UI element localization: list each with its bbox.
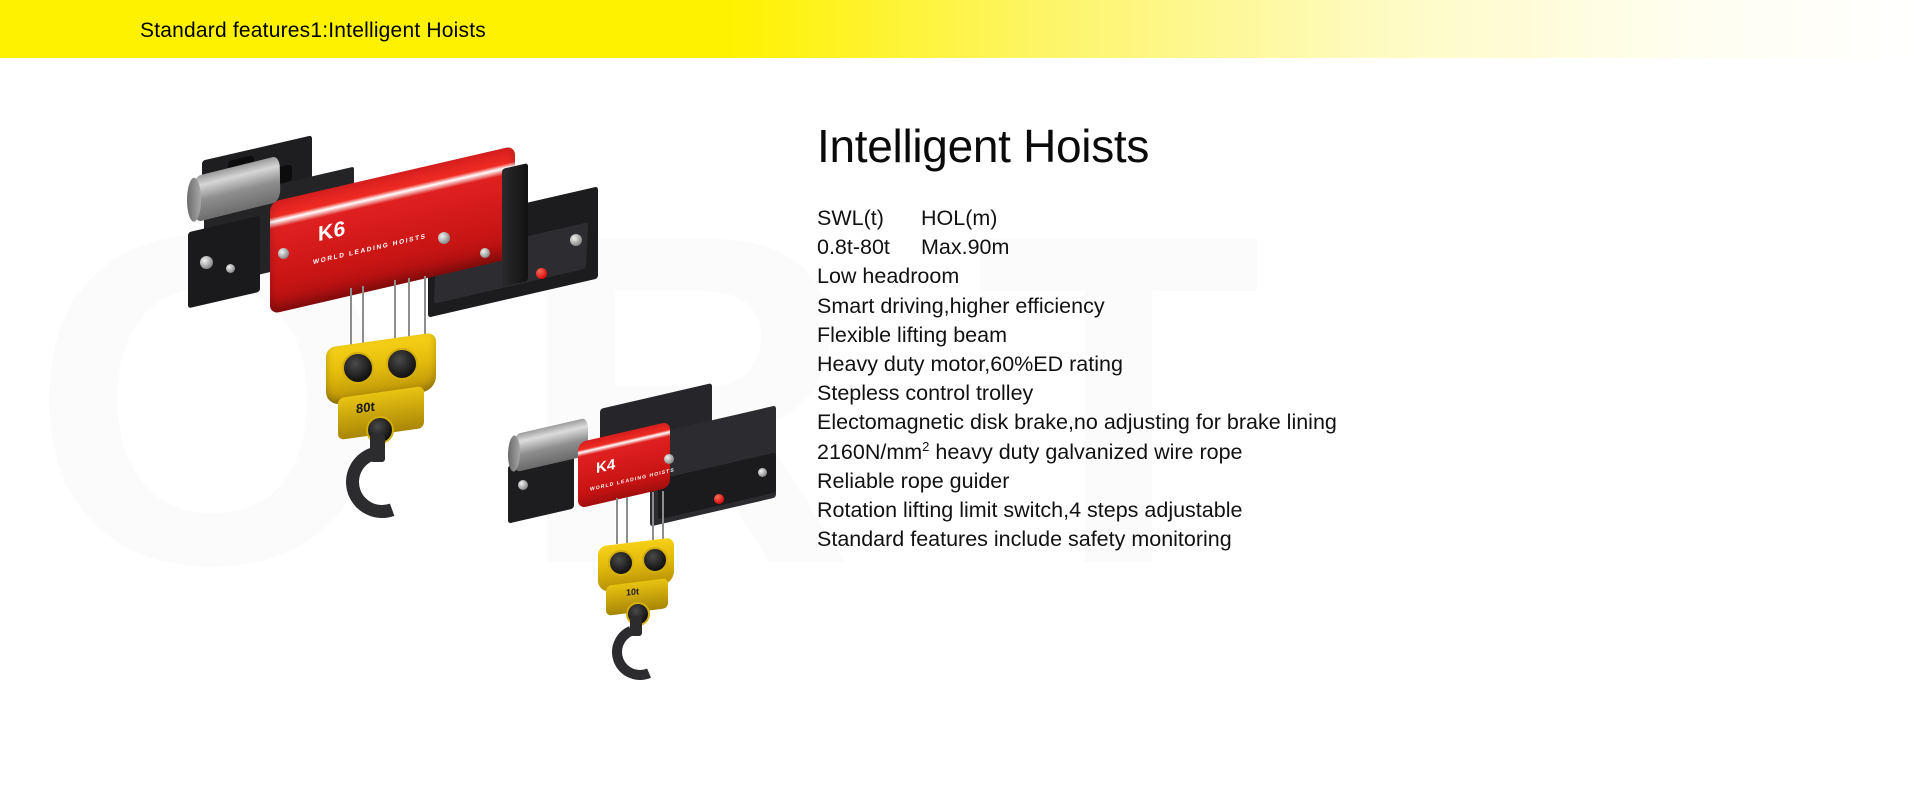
lifting-hook [334,434,430,530]
spec-feature-trolley: Stepless control trolley [817,379,1857,408]
lifting-hook [604,616,677,689]
wire-rope [394,280,396,344]
spec-value-hol: Max.90m [921,235,1009,259]
wire-rope [424,276,426,342]
section-heading: Intelligent Hoists [817,118,1857,174]
spec-feature-lifting-beam: Flexible lifting beam [817,321,1857,350]
spec-feature-low-headroom: Low headroom [817,262,1857,291]
header-banner: Standard features1:Intelligent Hoists [0,0,1920,58]
gearbox-housing [188,216,260,309]
wire-rope [626,497,628,543]
spec-feature-smart-driving: Smart driving,higher efficiency [817,292,1857,321]
spec-feature-motor: Heavy duty motor,60%ED rating [817,350,1857,379]
fastener-bolt [438,232,450,244]
specifications-panel: Intelligent Hoists SWL(t)HOL(m) 0.8t-80t… [817,118,1857,554]
wire-rope [408,278,410,342]
spec-header-swl: SWL(t) [817,204,921,233]
spec-feature-wire-rope: 2160N/mm2 heavy duty galvanized wire rop… [817,438,1857,467]
wire-rope [616,498,618,544]
page-title: Standard features1:Intelligent Hoists [140,19,486,43]
rope-sheave [608,550,634,576]
fastener-bolt [200,256,213,269]
rope-sheave [342,352,374,384]
spec-feature-disk-brake: Electomagnetic disk brake,no adjusting f… [817,408,1857,437]
spec-value-swl: 0.8t-80t [817,233,921,262]
spec-feature-limit-switch: Rotation lifting limit switch,4 steps ad… [817,496,1857,525]
fastener-bolt [278,248,289,259]
rope-sheave [386,348,418,380]
rope-sheave [642,547,668,573]
drum-end-cap [502,163,528,287]
fastener-bolt [226,264,235,273]
spec-table-header-row: SWL(t)HOL(m) [817,204,1857,233]
product-image-k4-hoist: K4 WORLD LEADING HOISTS 10t [500,358,800,648]
spec-feature-safety-monitoring: Standard features include safety monitor… [817,525,1857,554]
capacity-label: 80t [356,399,375,417]
fastener-bolt [570,234,582,246]
status-indicator-light [536,268,547,279]
wire-rope [350,288,352,350]
fastener-bolt [758,468,767,477]
fastener-bolt [518,480,528,490]
product-image-stage: K6 WORLD LEADING HOISTS 80t K4 WORLD LEA… [0,58,820,800]
capacity-label: 10t [626,586,639,598]
spec-header-hol: HOL(m) [921,206,997,230]
spec-table-value-row: 0.8t-80tMax.90m [817,233,1857,262]
fastener-bolt [480,248,490,258]
wire-rope [362,286,364,346]
spec-feature-rope-guider: Reliable rope guider [817,467,1857,496]
wire-rope [652,492,654,542]
status-indicator-light [714,494,724,504]
rope-description: heavy duty galvanized wire rope [929,440,1242,464]
wire-rope [662,491,664,541]
rope-strength-value: 2160N/mm [817,440,922,464]
fastener-bolt [664,454,674,464]
